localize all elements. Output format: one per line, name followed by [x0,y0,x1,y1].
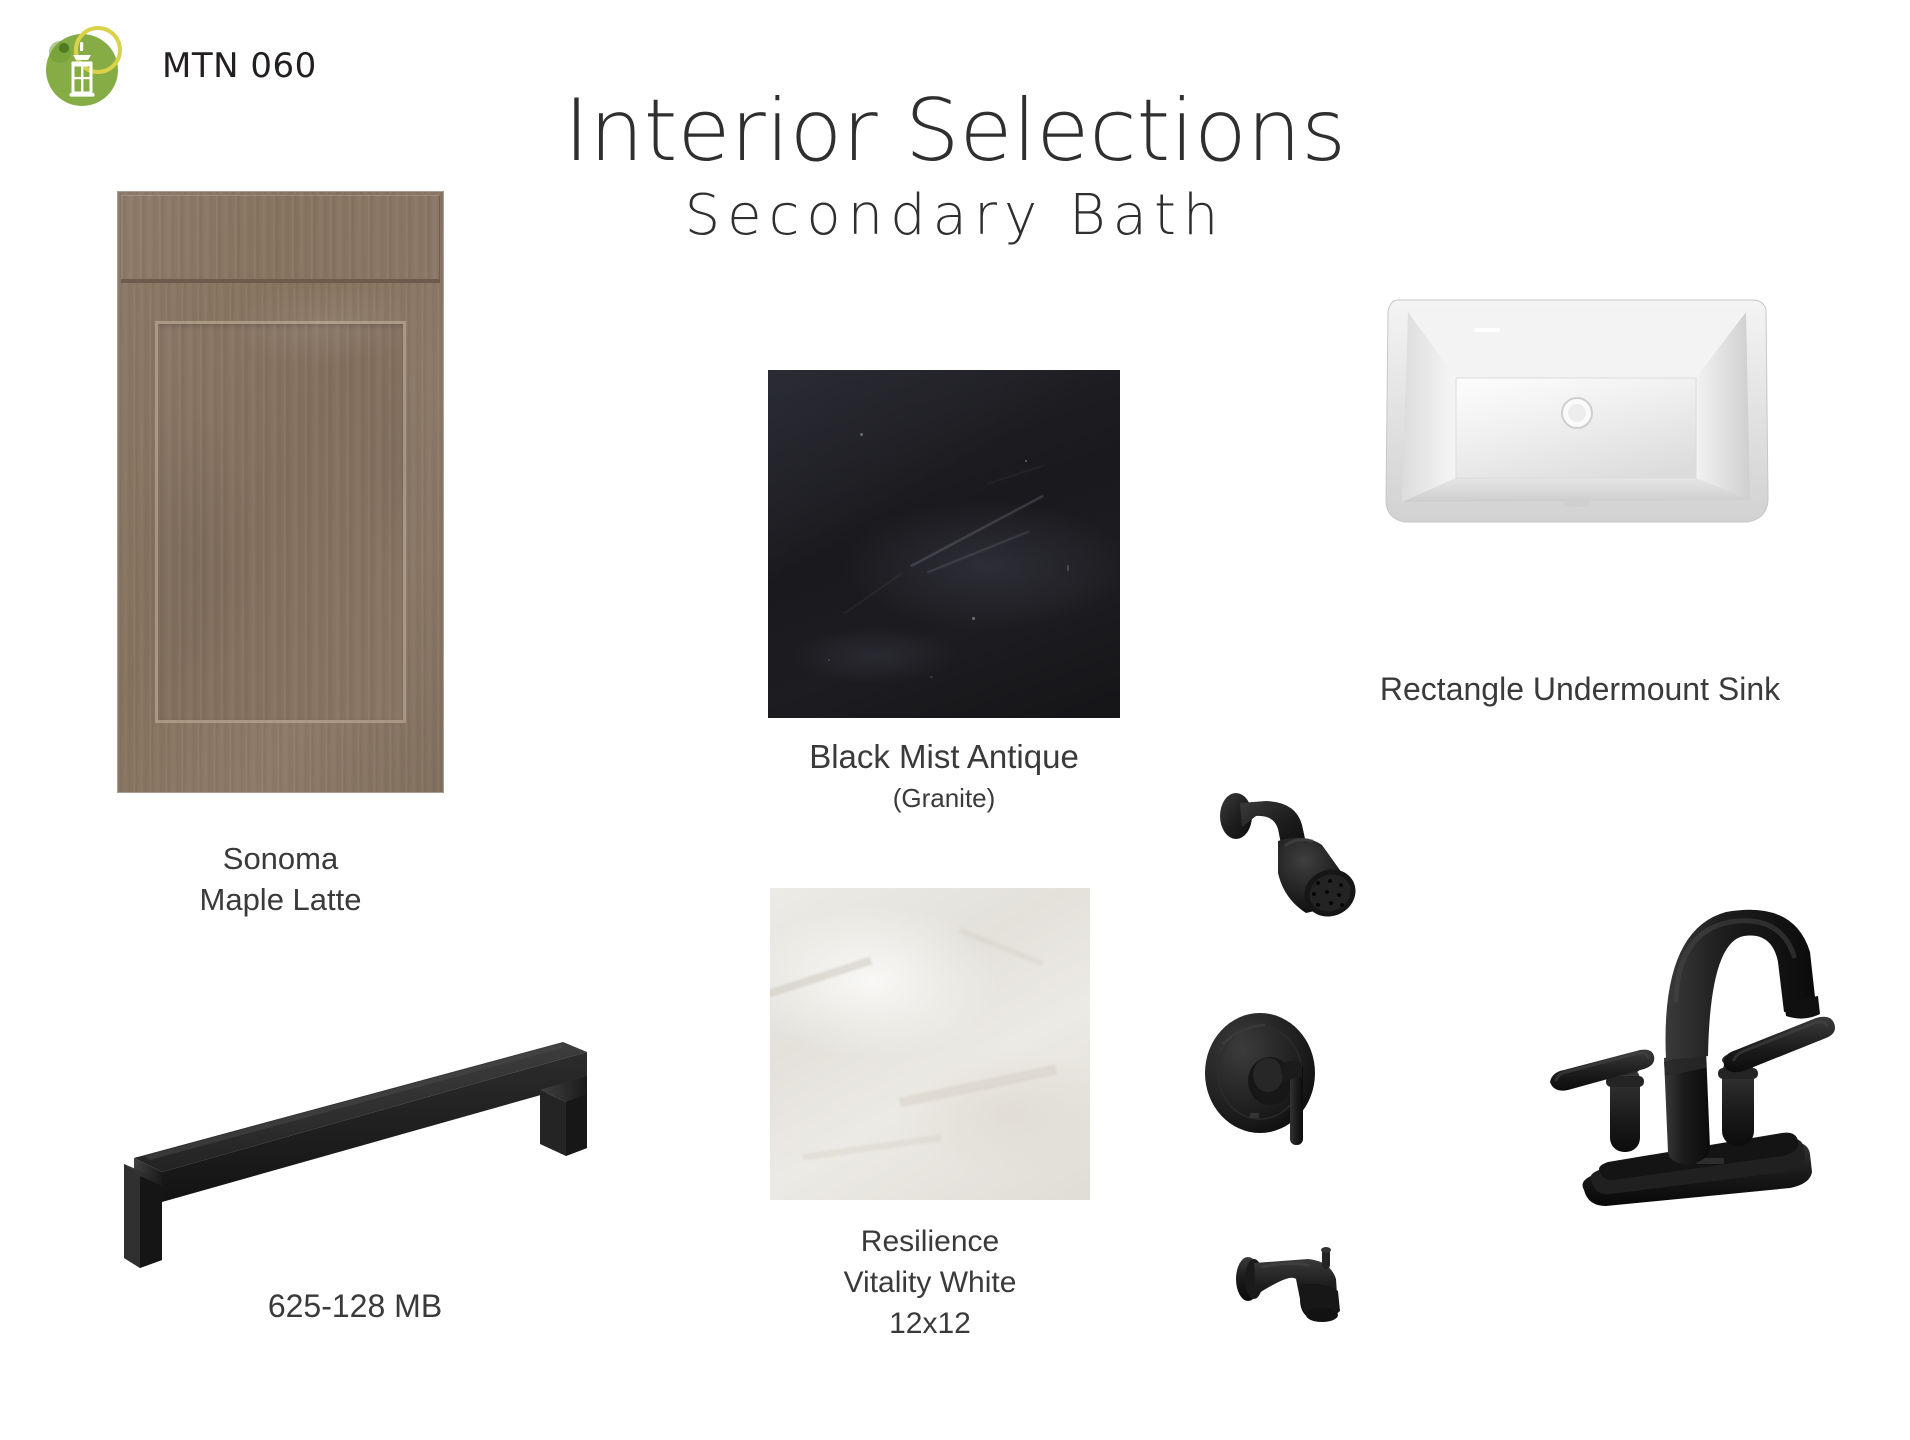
page-title: Interior Selections [455,88,1455,174]
cabinet-caption-line2: Maple Latte [118,879,443,920]
pull-caption: 625-128 MB [115,1285,595,1328]
tile-caption-line2: Vitality White [690,1263,1170,1304]
sink-caption: Rectangle Undermount Sink [1350,668,1810,712]
tub-spout-image [1230,1245,1400,1365]
sink-caption-line1: Rectangle Undermount Sink [1350,668,1810,712]
tile-caption-line1: Resilience [690,1222,1170,1263]
granite-subcaption: (Granite) [748,782,1140,816]
lavatory-faucet-image [1548,890,1888,1240]
shower-valve-trim-image [1198,1005,1378,1165]
granite-caption-line2: (Granite) [748,782,1140,816]
granite-caption: Black Mist Antique [748,735,1140,779]
cabinet-caption: Sonoma Maple Latte [118,838,443,920]
cabinet-pull-image [100,1030,620,1280]
page-subtitle: Secondary Bath [455,188,1455,244]
cabinet-center-panel [158,324,403,720]
granite-swatch [768,370,1120,718]
cabinet-drawer-front [121,195,440,283]
cabinet-door-swatch [118,192,443,792]
lantern-logo-icon [36,14,140,118]
shower-head-image [1200,775,1400,935]
tile-swatch [770,888,1090,1200]
project-code: MTN 060 [162,46,317,86]
brand-header: MTN 060 [36,14,317,118]
interior-selections-board: MTN 060 Interior Selections Secondary Ba… [0,0,1910,1440]
tile-caption-line3: 12x12 [690,1304,1170,1345]
undermount-sink-image [1378,282,1776,572]
pull-caption-line1: 625-128 MB [115,1285,595,1328]
cabinet-caption-line1: Sonoma [118,838,443,879]
title-block: Interior Selections Secondary Bath [455,88,1455,244]
tile-caption: Resilience Vitality White 12x12 [690,1222,1170,1344]
granite-caption-line1: Black Mist Antique [748,735,1140,779]
